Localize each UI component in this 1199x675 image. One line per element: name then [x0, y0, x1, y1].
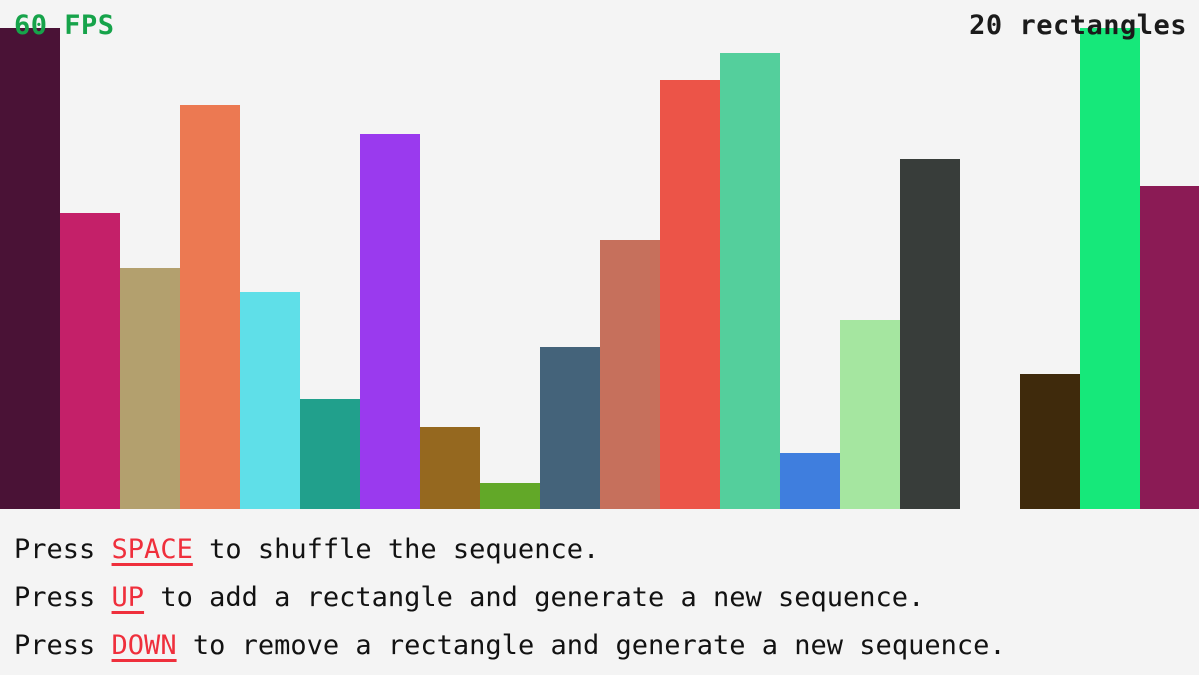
instructions-panel: Press SPACE to shuffle the sequence. Pre…: [0, 509, 1199, 675]
bar-5: [300, 399, 360, 509]
bar-3: [180, 105, 240, 509]
instruction-prefix: Press: [14, 582, 112, 613]
bar-14: [840, 320, 900, 509]
instruction-line-shuffle: Press SPACE to shuffle the sequence.: [14, 526, 1199, 574]
bar-10: [600, 240, 660, 509]
instruction-suffix: to remove a rectangle and generate a new…: [177, 630, 1006, 661]
visualization-canvas[interactable]: 60 FPS 20 rectangles: [0, 0, 1199, 509]
instruction-prefix: Press: [14, 630, 112, 661]
bar-0: [0, 28, 60, 509]
bar-19: [1140, 186, 1199, 509]
instruction-suffix: to add a rectangle and generate a new se…: [144, 582, 924, 613]
bar-6: [360, 134, 420, 509]
instruction-line-remove: Press DOWN to remove a rectangle and gen…: [14, 622, 1199, 670]
bar-chart: [0, 0, 1199, 509]
bar-11: [660, 80, 720, 509]
rectangle-count-label: 20 rectangles: [969, 12, 1187, 39]
bar-8: [480, 483, 540, 509]
bar-4: [240, 292, 300, 509]
bar-1: [60, 213, 120, 509]
key-down[interactable]: DOWN: [112, 630, 177, 661]
bar-7: [420, 427, 480, 509]
bar-15: [900, 159, 960, 509]
key-space[interactable]: SPACE: [112, 534, 193, 565]
bar-17: [1020, 374, 1080, 509]
fps-counter: 60 FPS: [14, 12, 115, 39]
bar-2: [120, 268, 180, 509]
key-up[interactable]: UP: [112, 582, 145, 613]
bar-12: [720, 53, 780, 509]
instruction-line-add: Press UP to add a rectangle and generate…: [14, 574, 1199, 622]
bar-18: [1080, 28, 1140, 509]
bar-13: [780, 453, 840, 509]
instruction-prefix: Press: [14, 534, 112, 565]
bar-9: [540, 347, 600, 509]
instruction-suffix: to shuffle the sequence.: [193, 534, 599, 565]
